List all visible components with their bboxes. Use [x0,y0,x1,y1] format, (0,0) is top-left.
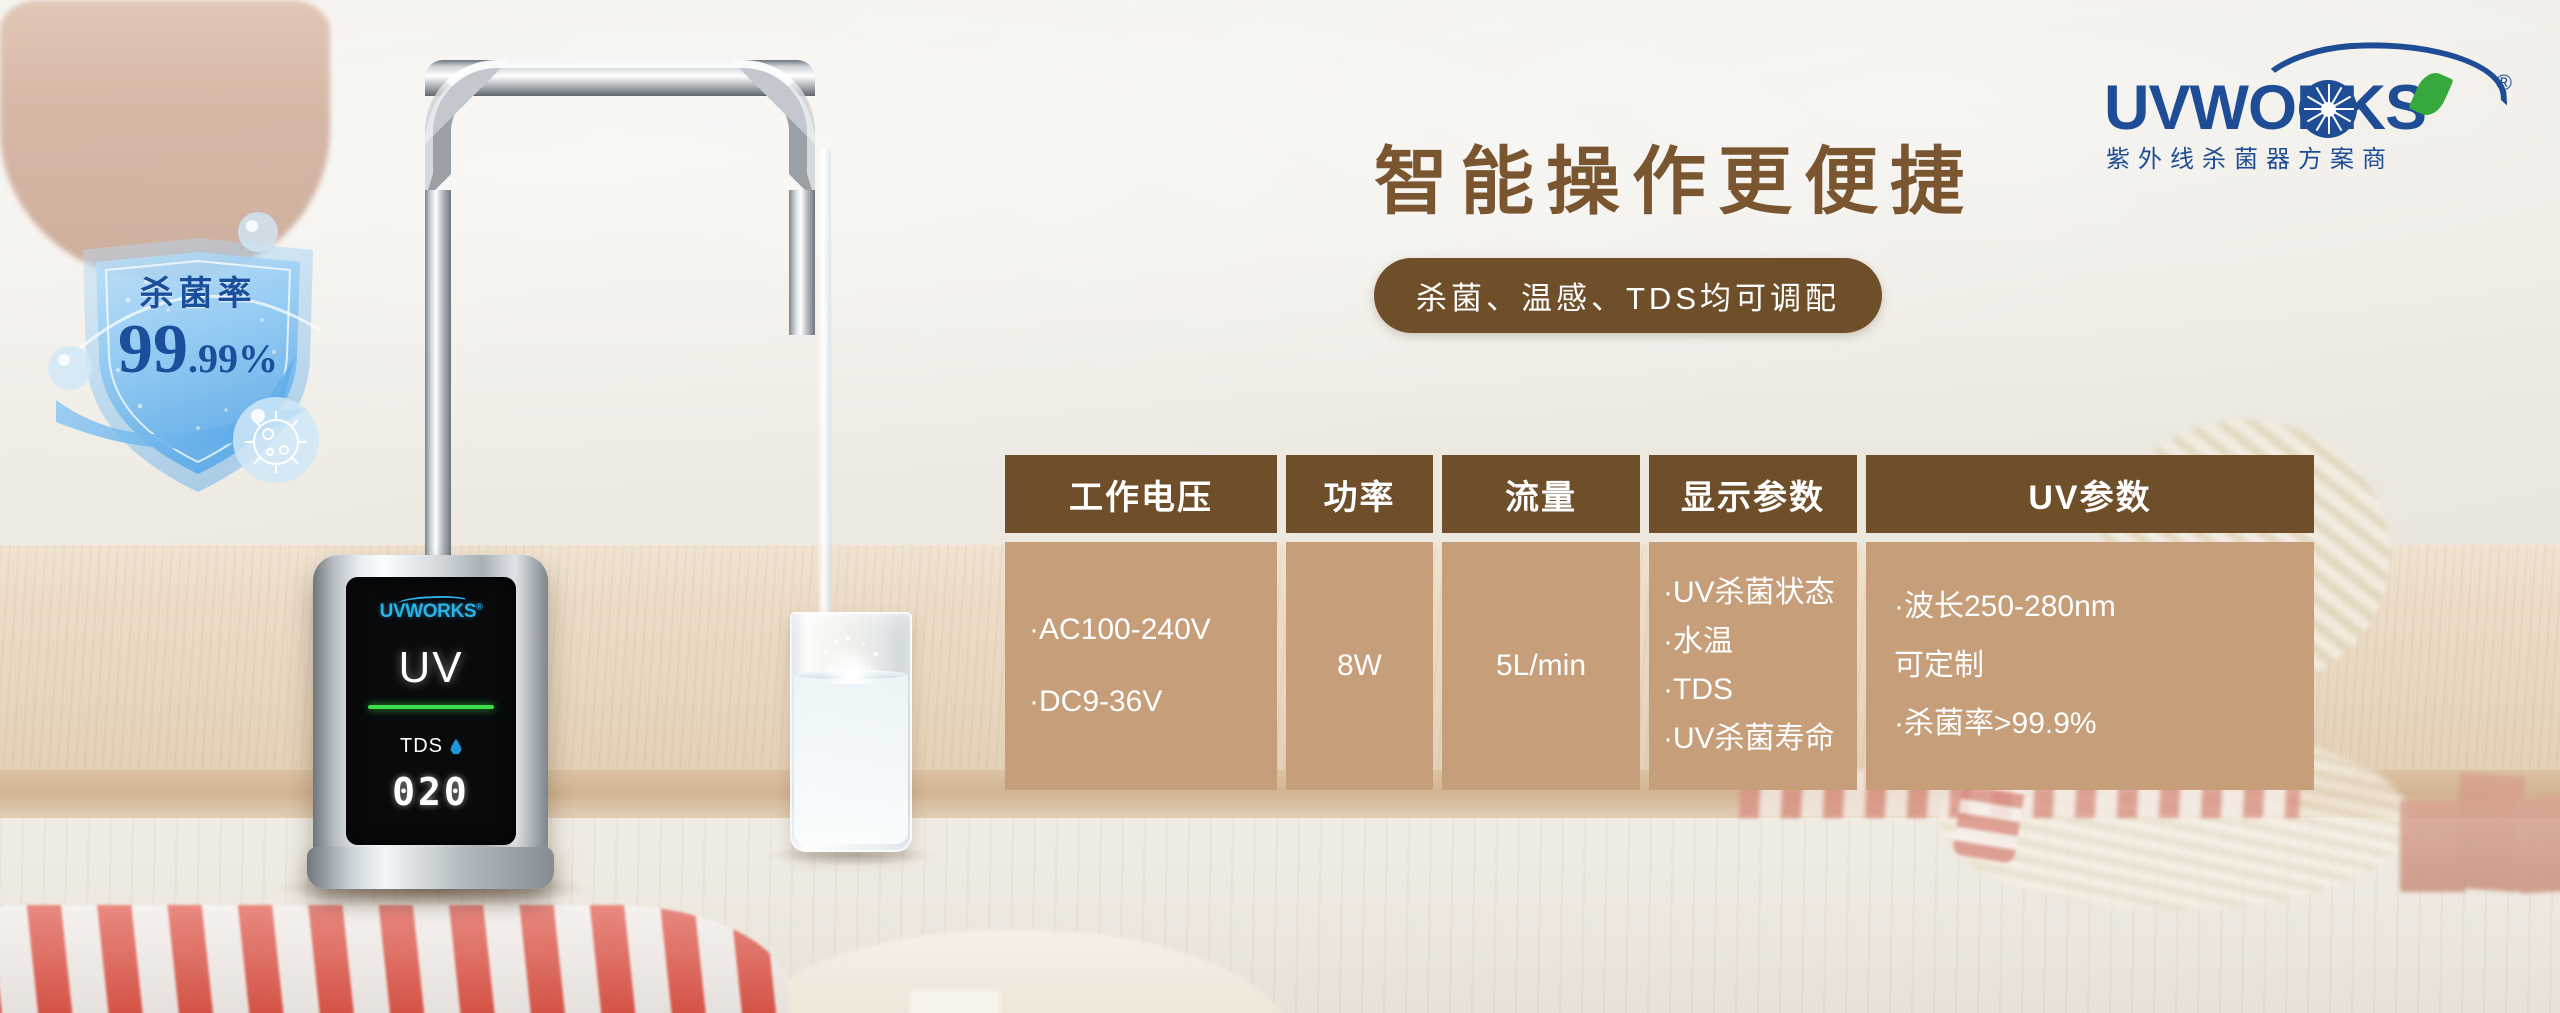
badge-value-main: 99 [118,311,188,388]
spec-cell: 5L/min [1442,542,1640,790]
subtitle-pill-label: 杀菌、温感、TDS均可调配 [1416,273,1840,318]
water-splash-icon [820,636,882,684]
spec-header: UV参数 [1866,455,2314,533]
brand-registered: ® [2496,70,2512,96]
spec-line: ·UV杀菌寿命 [1663,716,1835,763]
spec-column-uv-params: UV参数 ·波长250-280nm 可定制 ·杀菌率>99.9% [1866,455,2314,790]
spec-line: ·杀菌率>99.9% [1894,701,2097,748]
spec-line: ·UV杀菌状态 [1663,570,1835,617]
uv-sterilizer-device: UVWORKS® UV TDS 020 [313,555,548,875]
spec-line: 5L/min [1496,643,1586,690]
device-tds-label: TDS [400,735,443,758]
wooden-blocks-icon [2400,760,2560,900]
subtitle-pill: 杀菌、温感、TDS均可调配 [1374,258,1882,333]
device-status-bar [368,705,494,709]
faucet-spout [789,190,815,335]
sunburst-icon [2299,80,2357,138]
spec-line: 8W [1337,643,1382,690]
glass-water-fill [794,674,908,844]
spec-line: 可定制 [1894,643,1984,690]
badge-value-decimal: .99% [188,336,278,381]
spec-cell: ·AC100-240V ·DC9-36V [1005,542,1277,790]
spec-line: ·水温 [1663,619,1733,666]
spec-column-power: 功率 8W [1286,455,1433,790]
brand-tagline: 紫外线杀菌器方案商 [2106,139,2504,174]
badge-value: 99.99% [48,310,348,390]
spec-column-working-voltage: 工作电压 ·AC100-240V ·DC9-36V [1005,455,1277,790]
spec-line: ·波长250-280nm [1894,584,2116,631]
bowl-highlight [910,990,1000,1013]
kill-rate-badge: 杀菌率 99.99% [48,210,348,510]
water-glass-icon [790,612,912,852]
water-stream-icon [818,148,831,618]
spec-table: 工作电压 ·AC100-240V ·DC9-36V 功率 8W 流量 5L/mi… [1005,455,2314,790]
spec-cell: 8W [1286,542,1433,790]
spec-line: ·AC100-240V [1029,607,1211,654]
brand-wordmark: UVWORKS [2104,72,2426,144]
brand-logo: UVWORKS ® 紫外线杀菌器方案商 [2096,36,2516,166]
product-banner: UVWORKS® UV TDS 020 [0,0,2560,1013]
spec-column-flow-rate: 流量 5L/min [1442,455,1640,790]
spec-cell: ·波长250-280nm 可定制 ·杀菌率>99.9% [1866,542,2314,790]
faucet-column-left [425,190,451,600]
bubble-icon [238,212,278,252]
badge-label: 杀菌率 [48,266,348,315]
device-base [307,847,554,889]
device-tds-value: 020 [392,770,470,814]
device-tds-row: TDS [400,735,462,758]
device-logo: UVWORKS® [380,601,483,623]
striped-cloth-icon [0,905,790,1013]
spec-header: 功率 [1286,455,1433,533]
spec-header: 流量 [1442,455,1640,533]
page-title: 智能操作更便捷 [1374,122,1976,229]
bubble-highlight [251,409,265,423]
spec-header: 显示参数 [1649,455,1857,533]
spec-line: ·DC9-36V [1029,679,1162,726]
spec-header: 工作电压 [1005,455,1277,533]
device-logo-registered: ® [476,602,482,612]
sunburst-core [2321,102,2336,117]
spec-column-display-params: 显示参数 ·UV杀菌状态 ·水温 ·TDS ·UV杀菌寿命 [1649,455,1857,790]
device-mode-label: UV [398,643,463,693]
water-droplet-icon [450,739,462,755]
spec-line: ·TDS [1663,667,1733,714]
bubble-highlight [246,220,258,232]
spec-cell: ·UV杀菌状态 ·水温 ·TDS ·UV杀菌寿命 [1649,542,1857,790]
device-display-screen: UVWORKS® UV TDS 020 [346,577,516,845]
